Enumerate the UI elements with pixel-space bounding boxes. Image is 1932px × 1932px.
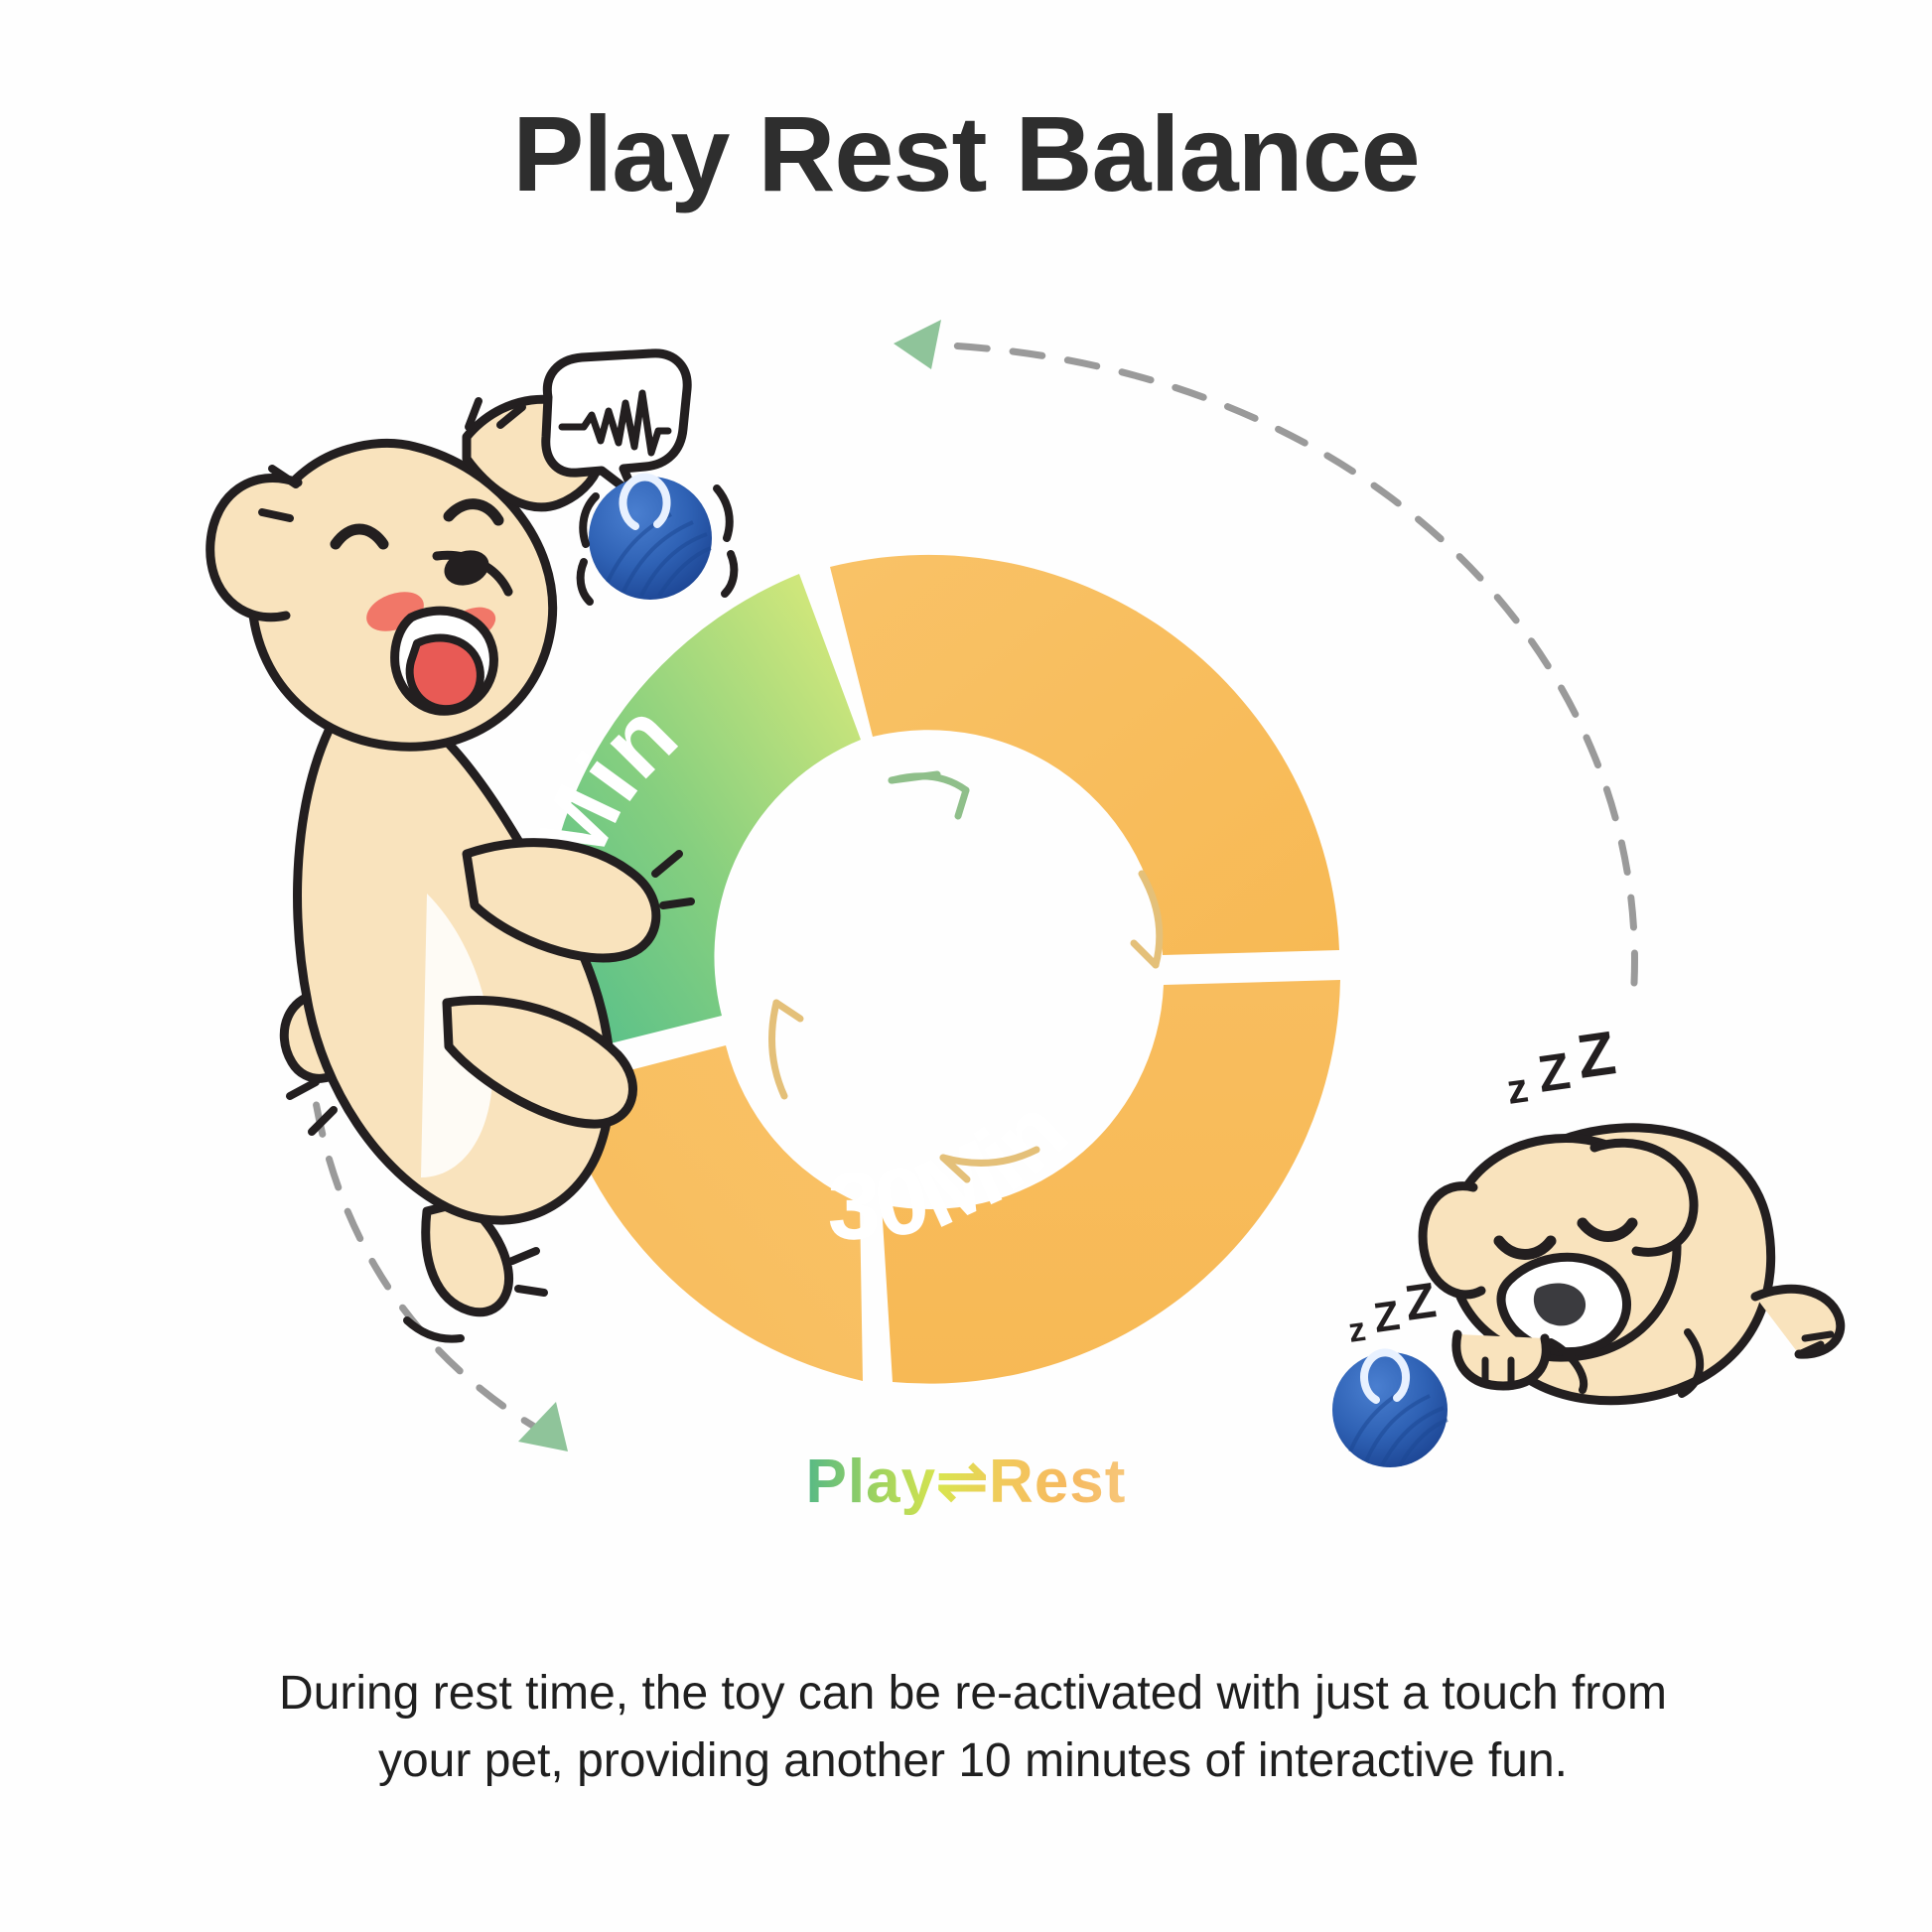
toy-ball-play (581, 477, 735, 602)
donut-chart: 10Min 30Min (0, 0, 1932, 1932)
inner-rotation-marker-right (1142, 874, 1160, 965)
donut-label-30min: 30Min (827, 1076, 1088, 1260)
donut-segment-rest-left[interactable] (557, 1045, 863, 1381)
sleep-z-small-1: z (1504, 1063, 1531, 1112)
playing-dog (210, 399, 656, 1312)
heartbeat-waveform-icon (562, 393, 668, 453)
donut-label-10min-text: 10Min (492, 681, 697, 986)
ball-logo-icon (623, 478, 667, 526)
cycle-arrows (0, 0, 1932, 1932)
sleep-text-small: z Z Z (1346, 1272, 1440, 1350)
arrow-head-top (894, 320, 941, 369)
play-to-rest-arrow (307, 884, 568, 1451)
play-speech-bubble (546, 353, 687, 496)
donut-segment-30min[interactable] (882, 980, 1340, 1384)
donut-label-30min-text: 30Min (827, 1076, 1088, 1260)
cycle-label-play: Play (806, 1448, 937, 1516)
infographic-canvas: Play Rest Balance (0, 0, 1932, 1932)
sleep-z-large-1: Z (1573, 1019, 1619, 1092)
inner-rotation-markers (772, 774, 1160, 1179)
donut-segment-rest-top-right[interactable] (830, 555, 1339, 955)
cycle-label-separator-icon: ⇌ (936, 1448, 989, 1516)
caption: During rest time, the toy can be re-acti… (159, 1660, 1787, 1795)
sleep-z-mid-1: Z (1535, 1042, 1575, 1104)
inner-rotation-marker-top (892, 776, 966, 790)
sleep-text-large: z Z Z (1504, 1019, 1620, 1113)
donut-label-10min: 10Min (492, 681, 697, 986)
ball-logo-icon-rest (1364, 1352, 1406, 1400)
page-title: Play Rest Balance (0, 95, 1932, 213)
donut-segment-10min[interactable] (542, 574, 861, 1057)
rest-scene: z Z Z z Z Z (0, 0, 1932, 1932)
motion-lines (262, 401, 691, 1339)
caption-line-1: During rest time, the toy can be re-acti… (159, 1660, 1787, 1727)
sleep-z-mid-2: Z (1371, 1292, 1403, 1341)
inner-rotation-marker-left (772, 1003, 785, 1096)
inner-rotation-marker-bottom (943, 1150, 1036, 1163)
sleeping-dog (1423, 1128, 1841, 1401)
caption-line-2: your pet, providing another 10 minutes o… (159, 1727, 1787, 1795)
cycle-label-rest: Rest (989, 1448, 1126, 1516)
cycle-label: Play⇌Rest (0, 1445, 1932, 1517)
sleep-z-large-2: Z (1402, 1272, 1440, 1331)
rest-to-play-arrow (894, 320, 1634, 983)
play-scene (0, 0, 1932, 1932)
sleep-z-small-2: z (1346, 1311, 1368, 1350)
